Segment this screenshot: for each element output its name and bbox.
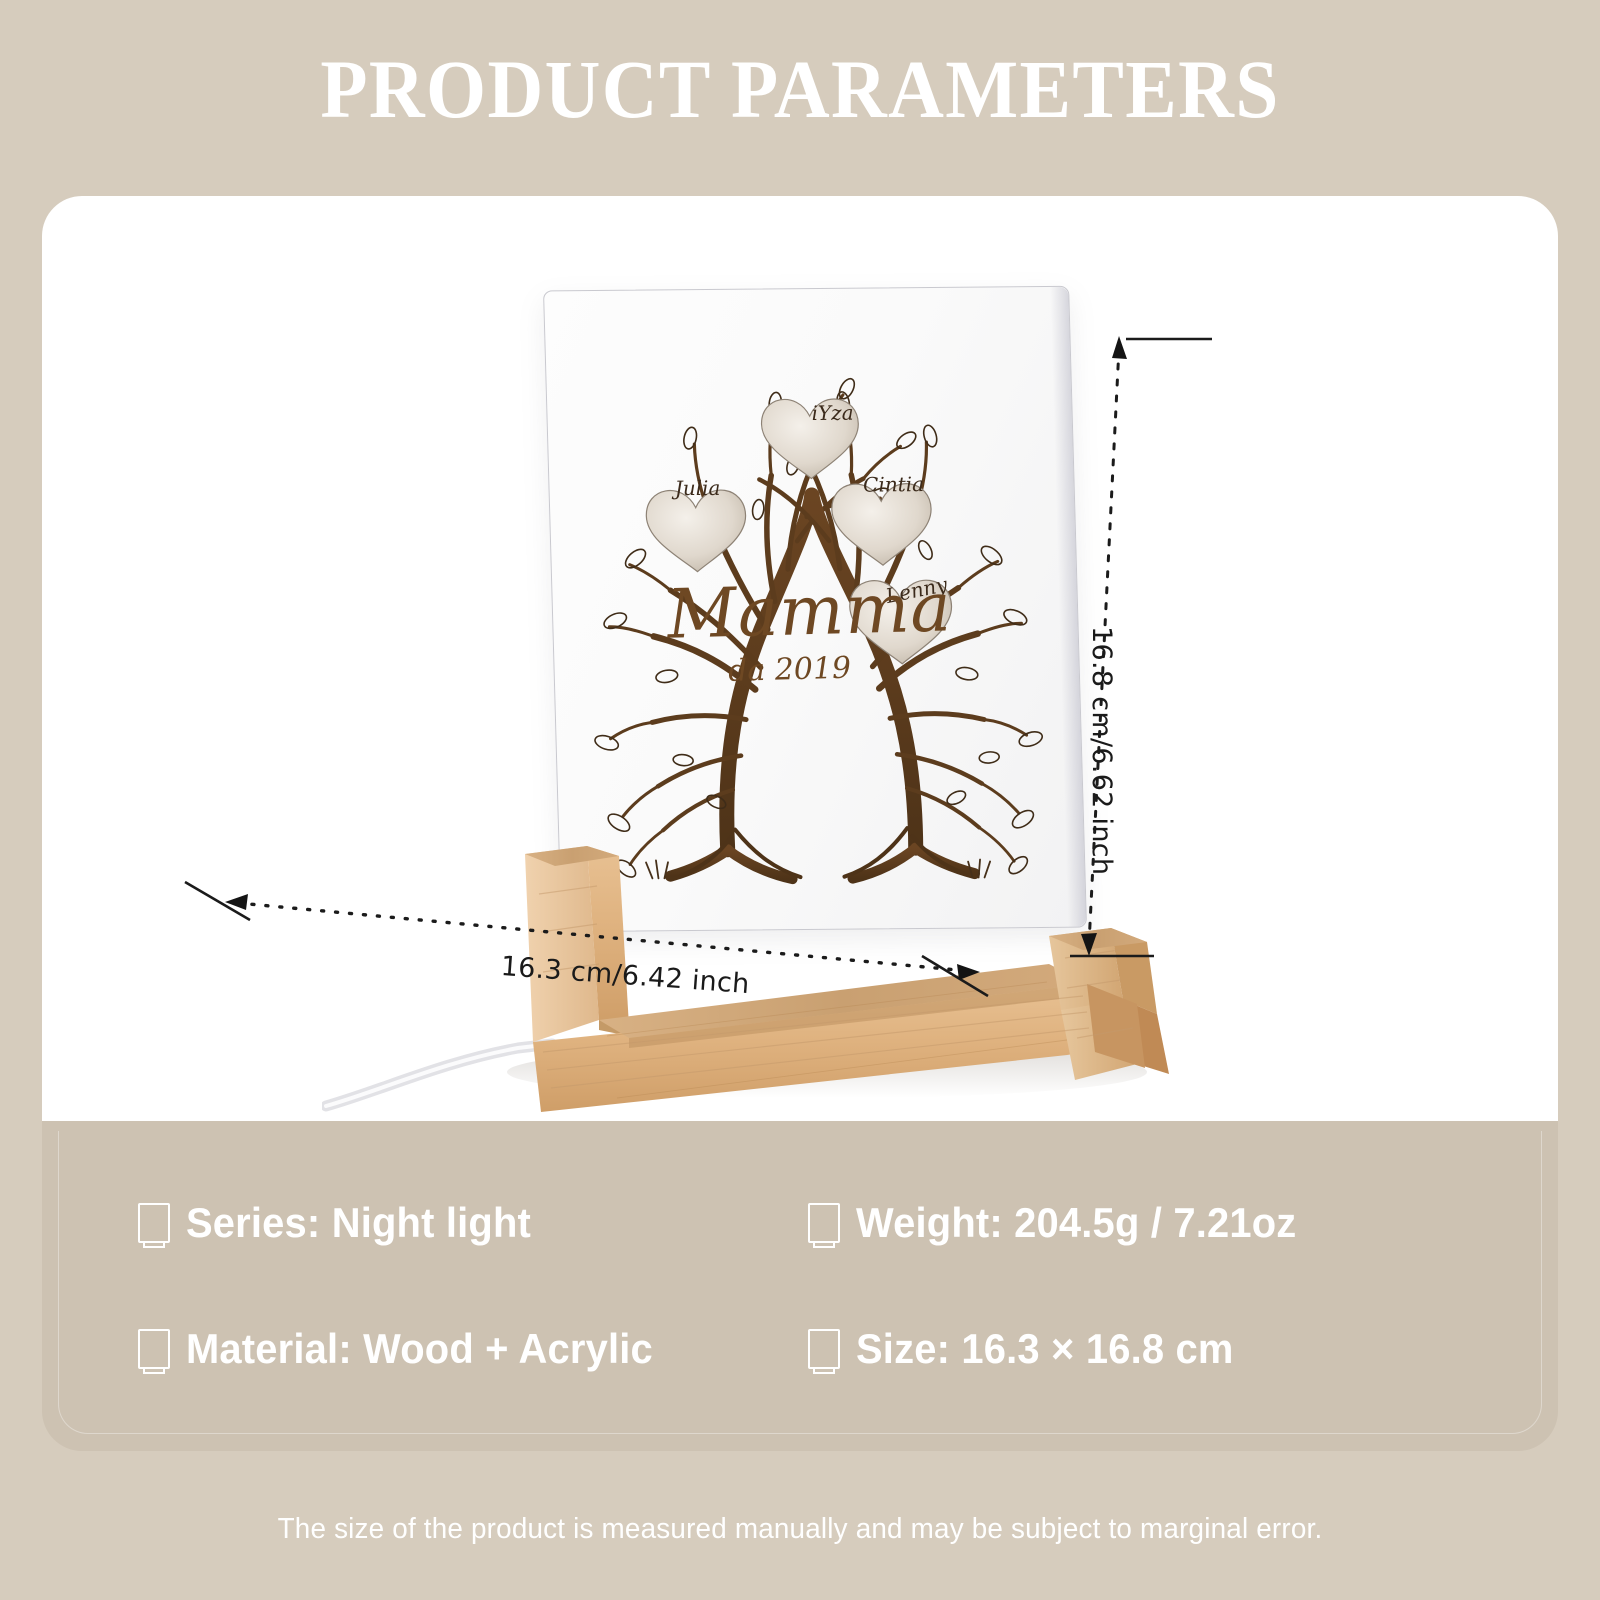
spec-box-icon	[138, 1203, 170, 1243]
name-heart-julia: Julia	[654, 478, 741, 499]
spec-box-icon	[808, 1203, 840, 1243]
spec-series-value: Night light	[332, 1199, 531, 1246]
name-heart-iyza-label: iYza	[811, 401, 854, 425]
spec-list: Series: Night light Weight: 204.5g / 7.2…	[138, 1199, 1478, 1373]
spec-size-text: Size: 16.3 × 16.8 cm	[856, 1325, 1234, 1373]
name-heart-cintia: Cintia	[847, 474, 940, 495]
spec-weight-label: Weight:	[856, 1199, 1003, 1246]
spec-size-value: 16.3 × 16.8 cm	[961, 1325, 1233, 1372]
spec-box-icon	[138, 1329, 170, 1369]
spec-box-icon	[808, 1329, 840, 1369]
name-heart-cintia-label: Cintia	[863, 472, 925, 497]
spec-size-label: Size:	[856, 1325, 950, 1372]
spec-series-text: Series: Night light	[186, 1199, 531, 1247]
name-heart-julia-label: Julia	[674, 476, 720, 500]
spec-weight-text: Weight: 204.5g / 7.21oz	[856, 1199, 1296, 1247]
plaque-sub-text: da 2019	[727, 651, 852, 689]
product-image-panel: iYza Julia Cintia Lenny Mamma da 2019	[42, 196, 1558, 1121]
spec-material-text: Material: Wood + Acrylic	[186, 1325, 653, 1373]
spec-item-series: Series: Night light	[138, 1199, 808, 1247]
footer-disclaimer: The size of the product is measured manu…	[32, 1513, 1568, 1546]
name-heart-iyza: iYza	[794, 403, 871, 424]
product-photo-scene: iYza Julia Cintia Lenny Mamma da 2019	[42, 196, 1558, 1121]
spec-weight-value: 204.5g / 7.21oz	[1014, 1199, 1296, 1246]
wooden-base	[447, 752, 1177, 1112]
spec-item-weight: Weight: 204.5g / 7.21oz	[808, 1199, 1478, 1247]
spec-material-label: Material:	[186, 1325, 352, 1372]
spec-panel: Series: Night light Weight: 204.5g / 7.2…	[42, 1121, 1558, 1451]
spec-material-value: Wood + Acrylic	[363, 1325, 653, 1372]
spec-item-size: Size: 16.3 × 16.8 cm	[808, 1325, 1478, 1373]
spec-item-material: Material: Wood + Acrylic	[138, 1325, 808, 1373]
page-title: PRODUCT PARAMETERS	[56, 46, 1544, 133]
plaque-main-text: Mamma	[665, 568, 953, 654]
spec-series-label: Series:	[186, 1199, 320, 1246]
